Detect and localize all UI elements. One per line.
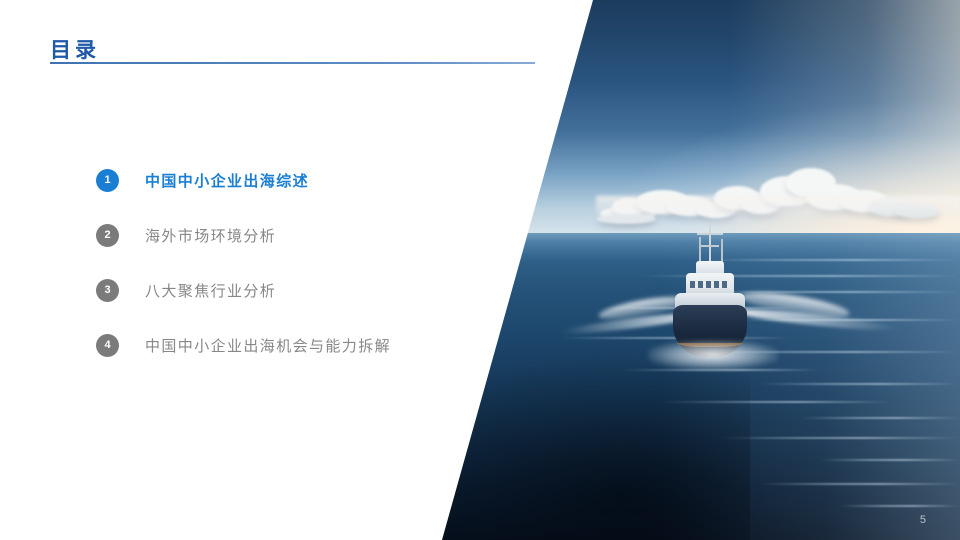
toc-item-3[interactable]: 3 八大聚焦行业分析 <box>96 278 496 302</box>
toc-item-1[interactable]: 1 中国中小企业出海综述 <box>96 168 496 192</box>
toc-label-2: 海外市场环境分析 <box>145 225 276 246</box>
ship-bridge-windows <box>690 281 730 288</box>
cloud-haze-band <box>596 196 960 216</box>
toc-item-4[interactable]: 4 中国中小企业出海机会与能力拆解 <box>96 333 496 357</box>
ship-yard <box>697 233 723 235</box>
toc-badge-1: 1 <box>96 169 119 192</box>
toc-label-3: 八大聚焦行业分析 <box>145 280 276 301</box>
ship-mast <box>709 223 711 265</box>
page-number: 5 <box>920 514 926 526</box>
bow-wave <box>648 340 778 370</box>
toc-label-1: 中国中小企业出海综述 <box>145 170 309 191</box>
toc-item-2[interactable]: 2 海外市场环境分析 <box>96 223 496 247</box>
page-title: 目录 <box>50 34 100 64</box>
slide: 目录 1 中国中小企业出海综述 2 海外市场环境分析 3 八大聚焦行业分析 4 … <box>0 0 960 540</box>
toc-label-4: 中国中小企业出海机会与能力拆解 <box>145 335 391 356</box>
title-divider <box>50 62 535 64</box>
ship-yard <box>701 245 719 247</box>
table-of-contents: 1 中国中小企业出海综述 2 海外市场环境分析 3 八大聚焦行业分析 4 中国中… <box>96 168 496 388</box>
toc-badge-3: 3 <box>96 279 119 302</box>
toc-badge-4: 4 <box>96 334 119 357</box>
toc-badge-2: 2 <box>96 224 119 247</box>
